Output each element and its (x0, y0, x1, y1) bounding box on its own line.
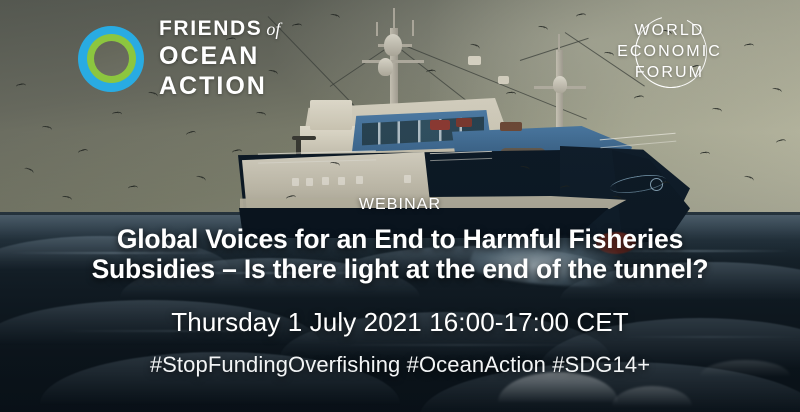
event-kicker: WEBINAR (0, 196, 800, 214)
event-title: Global Voices for an End to Harmful Fish… (0, 225, 800, 284)
friends-of-ocean-action-ring-logo (78, 26, 144, 92)
foa-line1-of: of (266, 20, 280, 38)
wef-line1-world: WORLD (597, 20, 742, 41)
world-economic-forum-logo[interactable]: WORLD ECONOMIC FORUM (597, 14, 742, 92)
foa-line3-action: ACTION (159, 74, 280, 99)
ring-inner-green (87, 34, 136, 83)
event-datetime: Thursday 1 July 2021 16:00-17:00 CET (0, 307, 800, 338)
foa-line1-friends: FRIENDS (159, 18, 262, 39)
event-title-line1: Global Voices for an End to Harmful Fish… (0, 225, 800, 255)
ring-hole (94, 41, 129, 76)
wef-line3-forum: FORUM (597, 62, 742, 83)
world-economic-forum-wordmark: WORLD ECONOMIC FORUM (597, 20, 742, 83)
webinar-promo-banner: FRIENDS of OCEAN ACTION WORLD ECONOMIC F… (0, 0, 800, 412)
friends-of-ocean-action-wordmark: FRIENDS of OCEAN ACTION (159, 18, 280, 99)
event-title-line2: Subsidies – Is there light at the end of… (0, 255, 800, 285)
wef-line2-economic: ECONOMIC (597, 41, 742, 62)
event-text-block: WEBINAR Global Voices for an End to Harm… (0, 196, 800, 378)
event-hashtags: #StopFundingOverfishing #OceanAction #SD… (0, 352, 800, 378)
foa-line2-ocean: OCEAN (159, 44, 280, 69)
friends-of-ocean-action-logo[interactable]: FRIENDS of OCEAN ACTION (78, 18, 280, 99)
